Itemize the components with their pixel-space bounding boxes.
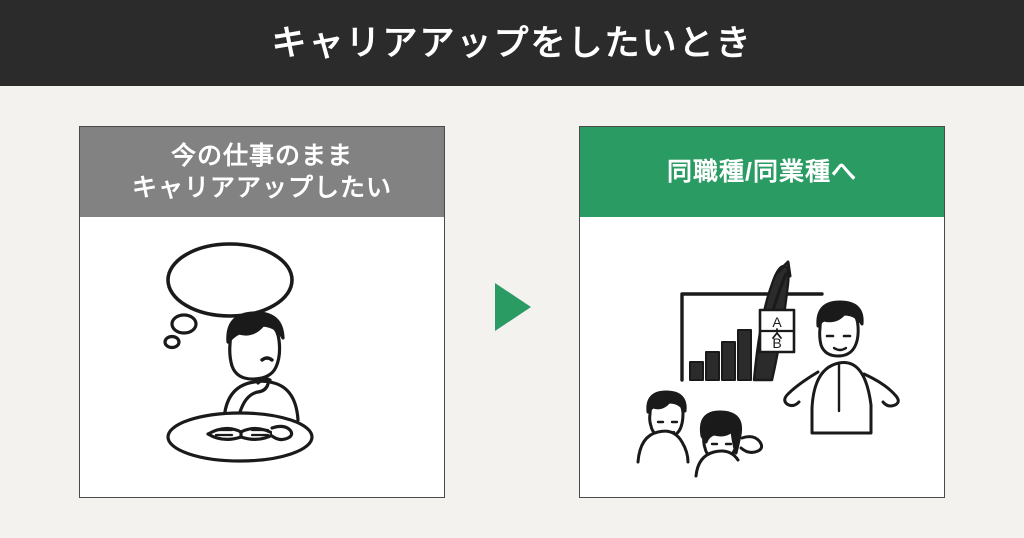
slide-root: キャリアアップをしたいとき 今の仕事のまま キャリアアップしたい xyxy=(0,0,1024,538)
card-same-occupation-body: A B xyxy=(580,217,944,497)
page-title: キャリアアップをしたいとき xyxy=(271,26,752,61)
card-current-job[interactable]: 今の仕事のまま キャリアアップしたい xyxy=(79,126,445,498)
card-current-job-heading: 今の仕事のまま キャリアアップしたい xyxy=(80,127,444,217)
presentation-growth-chart-icon: A B xyxy=(612,232,912,482)
card-current-job-body xyxy=(80,217,444,497)
card-same-occupation[interactable]: 同職種/同業種へ xyxy=(579,126,945,498)
card-current-job-heading-line2: キャリアアップしたい xyxy=(132,172,392,204)
card-same-occupation-heading-line1: 同職種/同業種へ xyxy=(667,156,857,188)
arrow-right-icon xyxy=(495,283,531,331)
card-same-occupation-heading: 同職種/同業種へ xyxy=(580,127,944,217)
card-current-job-heading-line1: 今の仕事のまま xyxy=(132,140,392,172)
person-thinking-reading-icon xyxy=(112,232,412,482)
svg-text:A: A xyxy=(772,314,782,330)
header-bar: キャリアアップをしたいとき xyxy=(0,0,1024,86)
